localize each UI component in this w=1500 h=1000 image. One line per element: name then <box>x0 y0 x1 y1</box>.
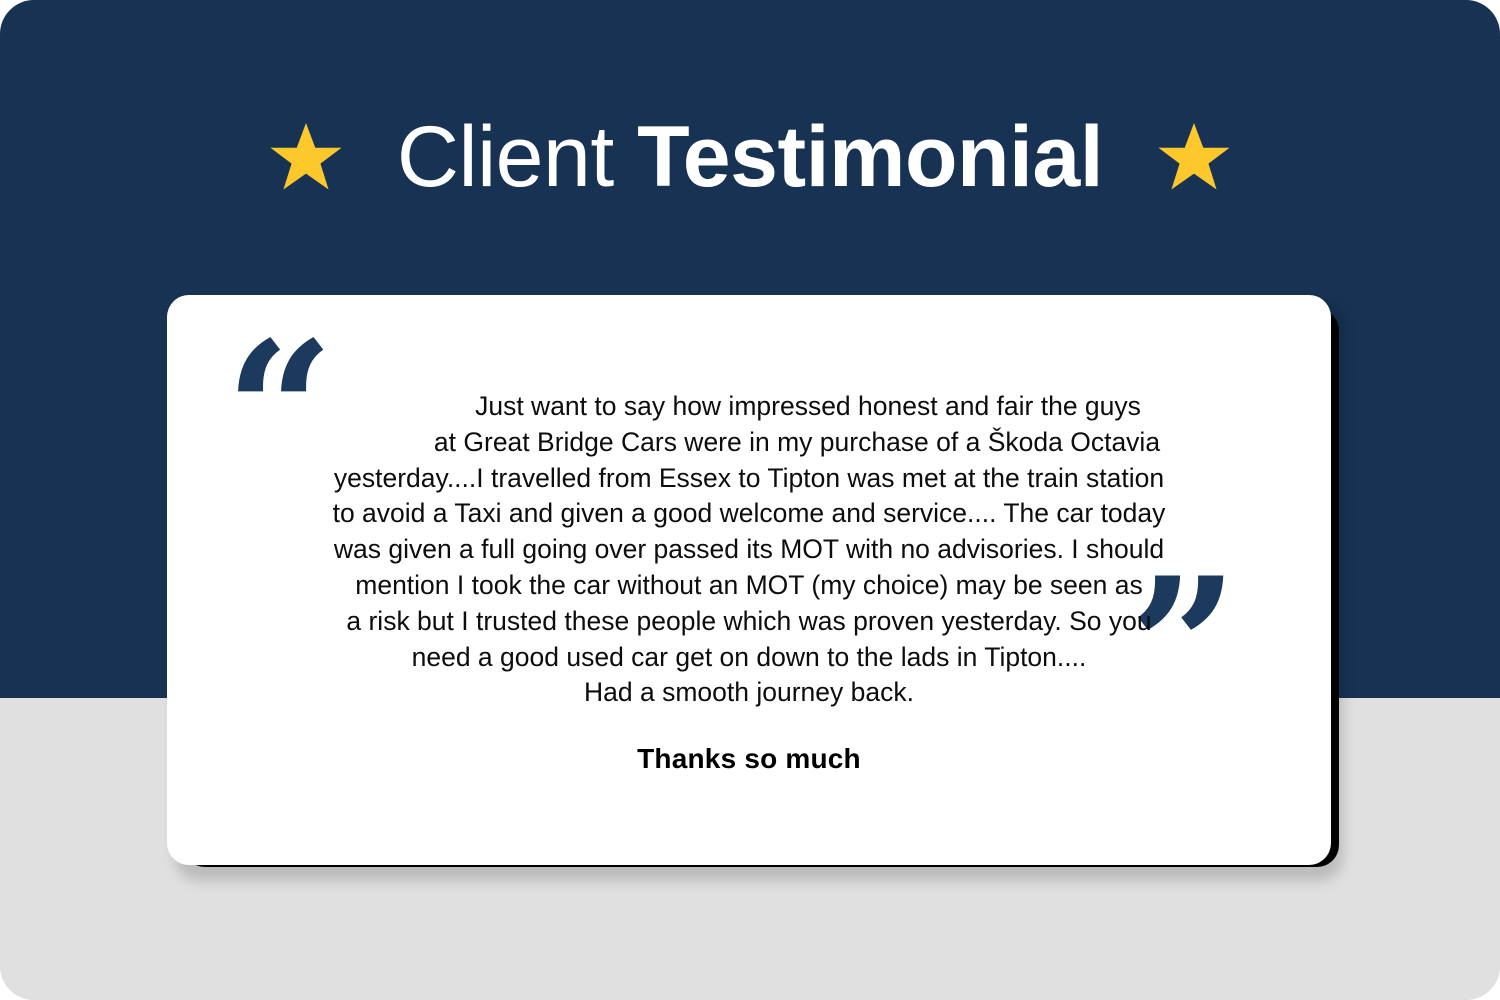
title-light-part: Client <box>397 109 614 205</box>
quote-line: a risk but I trusted these people which … <box>245 604 1253 640</box>
quote-line: Had a smooth journey back. <box>245 675 1253 711</box>
star-icon <box>1157 120 1231 194</box>
signoff-text: Thanks so much <box>245 743 1253 775</box>
quote-line: at Great Bridge Cars were in my purchase… <box>245 425 1253 461</box>
testimonial-card: “ ” Just want to say how impressed hones… <box>167 295 1331 865</box>
quote-line: need a good used car get on down to the … <box>245 640 1253 676</box>
star-icon <box>269 120 343 194</box>
quote-line: to avoid a Taxi and given a good welcome… <box>245 496 1253 532</box>
title-bold-part: Testimonial <box>637 109 1103 205</box>
quote-line: yesterday....I travelled from Essex to T… <box>245 461 1253 497</box>
header: Client Testimonial <box>0 92 1500 222</box>
quote-body: “ ” Just want to say how impressed hones… <box>167 295 1331 865</box>
quote-line: Just want to say how impressed honest an… <box>245 389 1253 425</box>
testimonial-graphic: Client Testimonial “ ” Just want to say … <box>0 0 1500 1000</box>
quote-line: was given a full going over passed its M… <box>245 532 1253 568</box>
quote-line: mention I took the car without an MOT (m… <box>245 568 1253 604</box>
testimonial-text: Just want to say how impressed honest an… <box>245 389 1253 711</box>
page-title: Client Testimonial <box>397 114 1103 200</box>
